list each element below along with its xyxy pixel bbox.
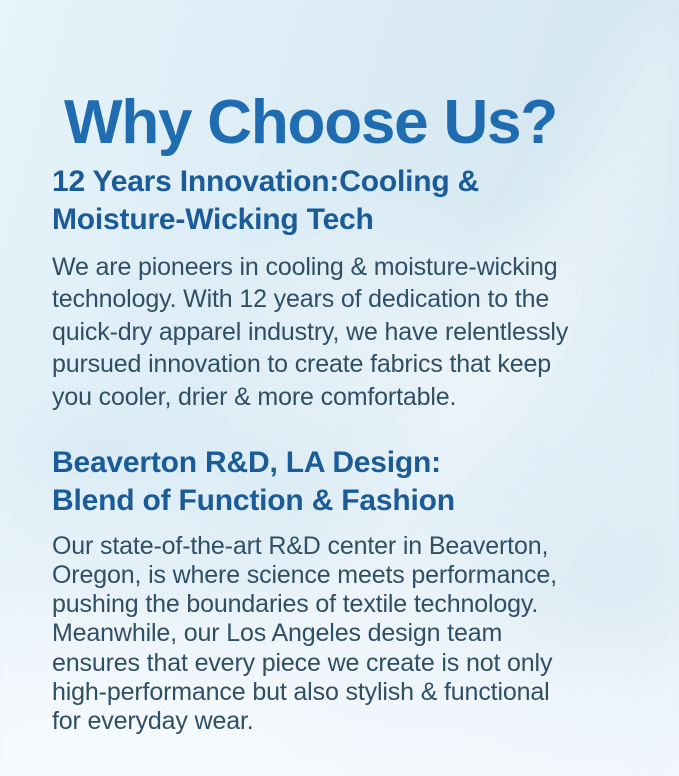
section-body: Our state-of-the-art R&D center in Beave… <box>52 532 652 737</box>
why-choose-us-poster: Why Choose Us? 12 Years Innovation:Cooli… <box>0 0 679 776</box>
section-body: We are pioneers in cooling & moisture-wi… <box>52 251 652 414</box>
section-heading: 12 Years Innovation:Cooling & Moisture-W… <box>52 163 652 239</box>
section-heading: Beaverton R&D, LA Design: Blend of Funct… <box>52 444 652 520</box>
section-design: Beaverton R&D, LA Design: Blend of Funct… <box>52 444 652 736</box>
section-innovation: 12 Years Innovation:Cooling & Moisture-W… <box>52 163 652 413</box>
page-title: Why Choose Us? <box>64 90 557 155</box>
